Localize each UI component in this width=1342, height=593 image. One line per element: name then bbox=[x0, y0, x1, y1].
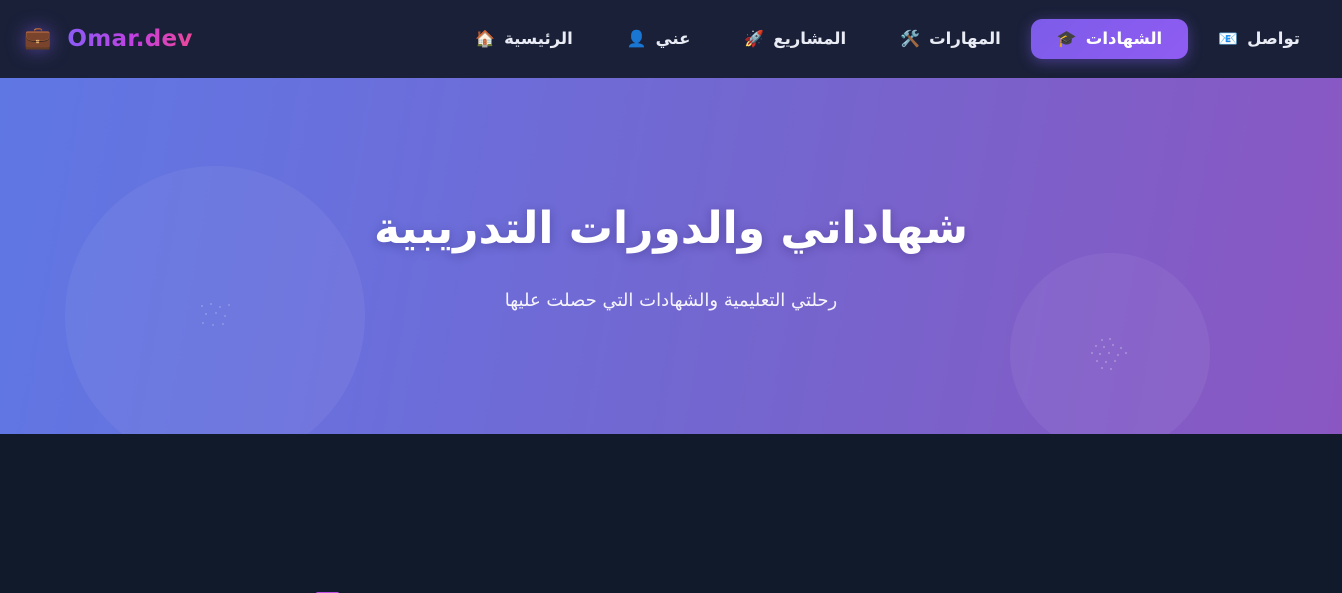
dot-pattern-left bbox=[196, 300, 236, 334]
section-heading: شهادات Programming Advices الدورات bbox=[373, 588, 1027, 593]
tools-icon: 🛠️ bbox=[900, 31, 920, 47]
brand-group[interactable]: 💼 Omar.dev bbox=[14, 26, 193, 52]
nav-item-projects[interactable]: 🚀 المشاريع bbox=[720, 21, 870, 58]
section-heading-english: Programming Advices bbox=[373, 588, 858, 593]
graduation-cap-icon: 🎓 bbox=[1057, 31, 1077, 47]
nav-item-label: عني bbox=[656, 31, 691, 48]
section-heading-arabic: شهادات bbox=[872, 588, 1027, 593]
certificates-section: شهادات Programming Advices الدورات bbox=[0, 434, 1342, 593]
main-navbar: 💼 Omar.dev 🏠 الرئيسية 👤 عني 🚀 المشاريع 🛠… bbox=[0, 0, 1342, 78]
nav-item-certificates[interactable]: 🎓 الشهادات bbox=[1031, 19, 1188, 60]
hero-banner: شهاداتي والدورات التدريبية رحلتي التعليم… bbox=[0, 78, 1342, 434]
nav-item-label: الرئيسية bbox=[504, 31, 573, 48]
decorative-circle-left bbox=[65, 166, 365, 434]
layers-icon bbox=[315, 589, 355, 593]
nav-item-home[interactable]: 🏠 الرئيسية bbox=[451, 21, 597, 58]
person-icon: 👤 bbox=[627, 31, 647, 47]
nav-item-about[interactable]: 👤 عني bbox=[603, 21, 715, 58]
briefcase-icon: 💼 bbox=[24, 28, 51, 50]
nav-item-label: تواصل bbox=[1247, 31, 1300, 48]
nav-item-label: المهارات bbox=[929, 31, 1001, 48]
hero-title: شهاداتي والدورات التدريبية bbox=[374, 201, 968, 256]
nav-item-label: المشاريع bbox=[773, 31, 846, 48]
email-icon: 📧 bbox=[1218, 31, 1238, 47]
nav-item-skills[interactable]: 🛠️ المهارات bbox=[876, 21, 1025, 58]
dot-pattern-right bbox=[1088, 336, 1132, 374]
nav-item-label: الشهادات bbox=[1086, 31, 1162, 48]
brand-name[interactable]: Omar.dev bbox=[67, 26, 192, 52]
section-heading-group: شهادات Programming Advices الدورات bbox=[315, 588, 1027, 593]
house-icon: 🏠 bbox=[475, 31, 495, 47]
rocket-icon: 🚀 bbox=[744, 31, 764, 47]
nav-item-contact[interactable]: 📧 تواصل bbox=[1194, 21, 1324, 58]
decorative-circle-right bbox=[1010, 253, 1210, 434]
hero-subtitle: رحلتي التعليمية والشهادات التي حصلت عليه… bbox=[505, 290, 837, 311]
nav-links: 🏠 الرئيسية 👤 عني 🚀 المشاريع 🛠️ المهارات … bbox=[451, 19, 1324, 60]
